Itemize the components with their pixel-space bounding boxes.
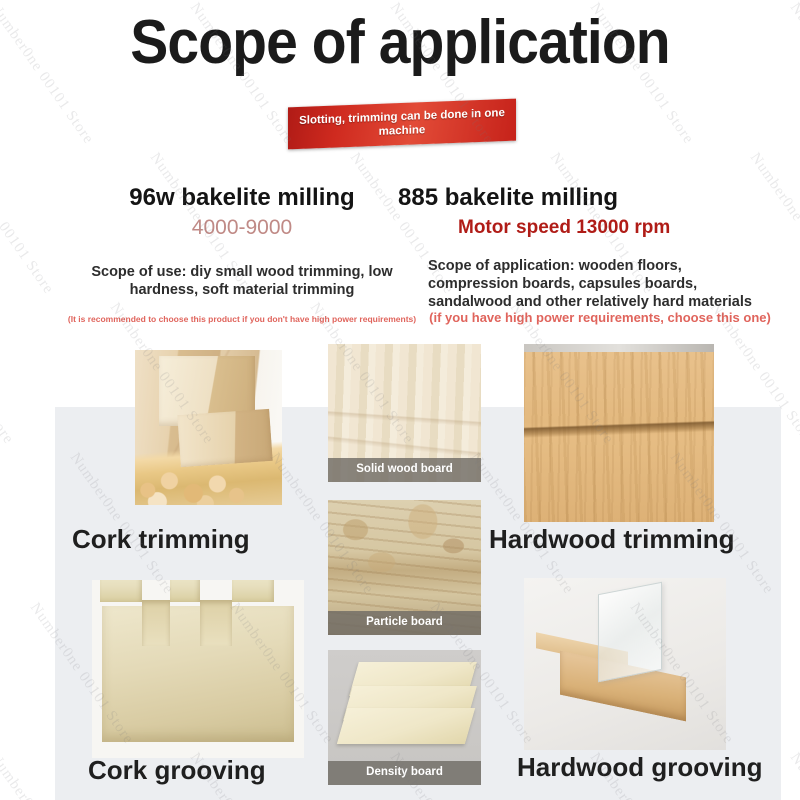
caption-cork-trimming: Cork trimming xyxy=(72,524,250,554)
density-sheet-bottom xyxy=(337,708,475,744)
cork-rail-3 xyxy=(232,580,274,602)
photo-cork-grooving xyxy=(92,580,304,758)
spec-right-note: (if you have high power requirements, ch… xyxy=(420,310,780,326)
spec-left-scope: Scope of use: diy small wood trimming, l… xyxy=(62,263,422,299)
glass-pane xyxy=(598,582,662,682)
watermark-text: Number0ne 00101 Store xyxy=(786,750,800,800)
spec-right-scope: Scope of application: wooden floors, com… xyxy=(398,257,766,311)
cork-block-body xyxy=(102,606,294,742)
page-title: Scope of application xyxy=(32,8,768,78)
cork-groove-2 xyxy=(200,600,232,646)
spec-column-96w: 96w bakelite milling 4000-9000 Scope of … xyxy=(62,184,422,299)
photo-cork-trimming xyxy=(135,350,282,505)
caption-particle-board: Particle board xyxy=(328,611,481,636)
caption-solid-wood-board: Solid wood board xyxy=(328,458,481,483)
spec-right-title: 885 bakelite milling xyxy=(398,184,766,212)
cork-groove-1 xyxy=(142,600,170,646)
photo-solid-wood-board: Solid wood board xyxy=(328,344,481,482)
wood-shavings xyxy=(135,459,251,505)
photo-density-board: Density board xyxy=(328,650,481,785)
caption-hardwood-grooving: Hardwood grooving xyxy=(517,752,763,782)
photo-hardwood-grooving xyxy=(524,578,726,750)
watermark-text: Number0ne 00101 Store xyxy=(786,0,800,148)
watermark-text: Number0ne 00101 Store xyxy=(0,300,17,448)
watermark-text: Number0ne 00101 Store xyxy=(0,150,57,298)
caption-cork-grooving: Cork grooving xyxy=(88,755,266,785)
plank-metal-edge xyxy=(524,344,714,352)
spec-right-subtitle: Motor speed 13000 rpm xyxy=(398,215,766,241)
banner-label: Slotting, trimming can be done in one ma… xyxy=(288,99,516,150)
caption-density-board: Density board xyxy=(328,761,481,786)
cork-rail-2 xyxy=(170,580,200,602)
photo-hardwood-trimming xyxy=(524,344,714,522)
spec-column-885: 885 bakelite milling Motor speed 13000 r… xyxy=(398,184,766,311)
banner-slotting-trimming: Slotting, trimming can be done in one ma… xyxy=(288,103,516,145)
spec-left-note: (It is recommended to choose this produc… xyxy=(62,313,422,325)
cork-rail-1 xyxy=(100,580,142,602)
photo-particle-board: Particle board xyxy=(328,500,481,635)
spec-left-title: 96w bakelite milling xyxy=(62,184,422,212)
caption-hardwood-trimming: Hardwood trimming xyxy=(489,524,735,554)
spec-left-subtitle: 4000-9000 xyxy=(62,215,422,241)
